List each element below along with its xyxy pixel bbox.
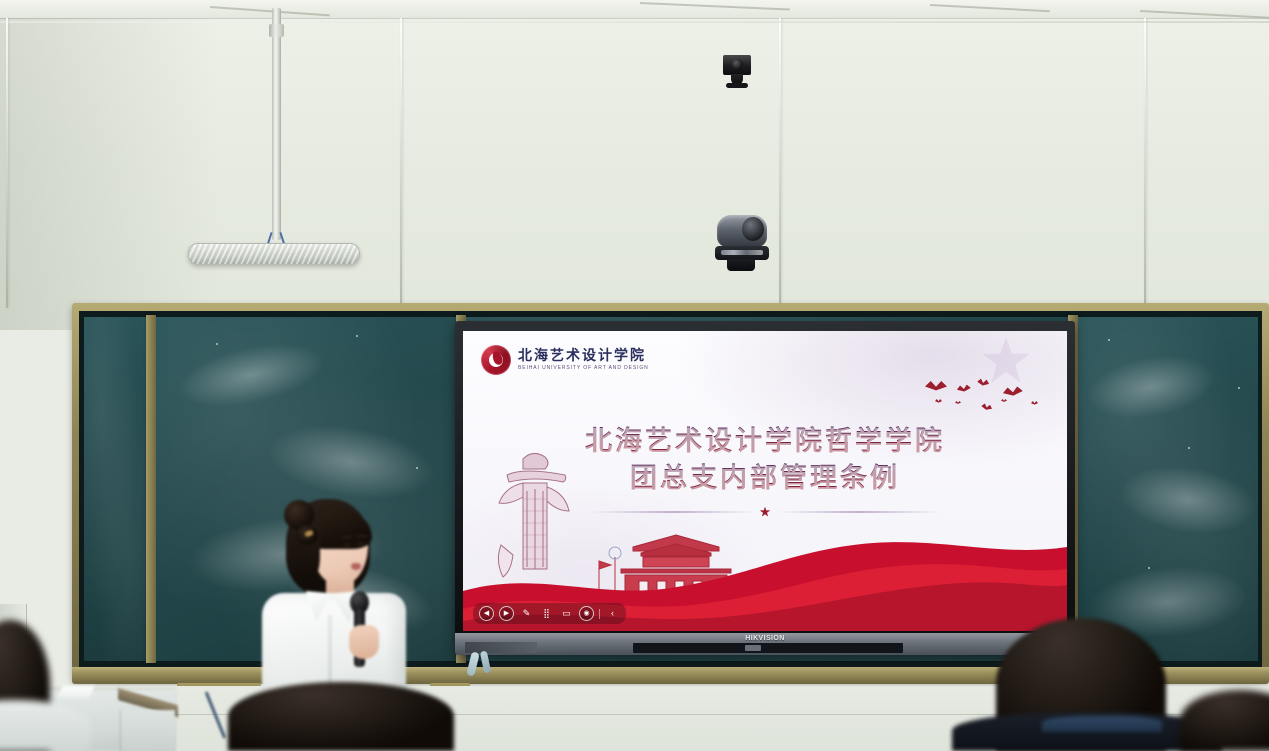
bird-icon: [976, 378, 989, 389]
lectern-papers: [58, 686, 95, 698]
slide-title-line-1: 北海艺术设计学院哲学学院: [463, 423, 1067, 460]
presenter-hand: [349, 625, 379, 659]
bird-icon: [1002, 386, 1023, 400]
blackboard-panel-edge: [146, 315, 156, 663]
next-slide-button[interactable]: ▶: [499, 606, 514, 621]
toolbar-separator: [599, 609, 600, 619]
pen-annotate-button[interactable]: ✎: [519, 608, 534, 620]
blackboard-panel-far-left: [84, 317, 146, 661]
blackboard-panel-right: [1078, 317, 1258, 661]
chalk-speck: [416, 467, 418, 469]
audience-member-right-collar: [1042, 716, 1162, 732]
ptz-camera-ring: [715, 246, 769, 260]
university-swirl-icon: [481, 345, 511, 375]
screen-mode-button[interactable]: ▭: [559, 608, 574, 620]
bird-icon: [1001, 399, 1007, 403]
chalk-smudge: [172, 332, 330, 418]
ppt-floating-toolbar[interactable]: ◀ ▶ ✎ ⣿ ▭ ◉ ‹: [473, 603, 626, 624]
bird-icon: [925, 381, 947, 394]
presenter-speaking: [250, 495, 420, 695]
slide-title: 北海艺术设计学院哲学学院 团总支内部管理条例: [463, 423, 1067, 498]
chalk-speck: [216, 343, 218, 345]
wall-seam: [779, 18, 781, 308]
bird-icon: [980, 403, 993, 413]
wall-seam: [1144, 18, 1146, 308]
chalk-speck: [1148, 567, 1150, 569]
presenter-eye: [343, 543, 351, 547]
bird-icon: [955, 401, 961, 405]
light-pole-joint: [269, 24, 284, 37]
chalk-speck: [356, 335, 358, 337]
display-screen[interactable]: 北海艺术设计学院 BEIHAI UNIVERSITY OF ART AND DE…: [463, 331, 1067, 631]
laser-pointer-button[interactable]: ◉: [579, 606, 594, 621]
box-camera-lens-icon: [732, 59, 743, 70]
slide-logo-en: BEIHAI UNIVERSITY OF ART AND DESIGN: [518, 365, 649, 371]
ptz-camera: [711, 211, 771, 273]
chalk-speck: [1238, 387, 1240, 389]
ceiling-light-fixture: [188, 243, 360, 265]
ptz-camera-lens-icon: [742, 217, 764, 241]
wall-seam-horizontal: [0, 21, 1269, 23]
bird-icon: [935, 399, 942, 404]
interactive-flat-panel[interactable]: 北海艺术设计学院 BEIHAI UNIVERSITY OF ART AND DE…: [455, 321, 1075, 655]
presentation-slide[interactable]: 北海艺术设计学院 BEIHAI UNIVERSITY OF ART AND DE…: [463, 331, 1067, 631]
back-wall: [0, 0, 1269, 330]
display-io-panel[interactable]: [633, 643, 903, 653]
previous-slide-button[interactable]: ◀: [479, 606, 494, 621]
classroom-scene: 北海艺术设计学院 BEIHAI UNIVERSITY OF ART AND DE…: [0, 0, 1269, 751]
bird-icon: [1031, 401, 1038, 406]
chalk-smudge: [1114, 458, 1258, 543]
bird-icon: [956, 384, 971, 395]
slide-title-line-2: 团总支内部管理条例: [463, 460, 1067, 497]
box-camera: [723, 55, 751, 81]
slide-logo-cn: 北海艺术设计学院: [518, 349, 649, 364]
presenter-mouth: [351, 563, 361, 570]
chalk-speck: [1108, 339, 1110, 341]
wall-seam: [6, 18, 8, 308]
slide-logo: 北海艺术设计学院 BEIHAI UNIVERSITY OF ART AND DE…: [481, 345, 649, 375]
box-camera-base: [726, 83, 748, 88]
collapse-toolbar-button[interactable]: ‹: [605, 608, 620, 620]
chalk-smudge: [1082, 346, 1220, 428]
ptz-camera-stem: [727, 259, 755, 271]
audience-member-center: [228, 682, 454, 751]
slide-grid-button[interactable]: ⣿: [539, 608, 554, 620]
light-mount-pole: [272, 8, 281, 240]
display-cable: [469, 652, 503, 678]
chalk-speck: [1188, 447, 1190, 449]
wall-seam: [400, 18, 402, 308]
lectern-side-panel: [120, 710, 175, 751]
display-brand-label: HIKVISION: [455, 635, 1075, 642]
presenter-eye: [357, 542, 365, 546]
flying-birds-decor: [921, 371, 1051, 415]
ceiling-strip: [0, 0, 1269, 19]
